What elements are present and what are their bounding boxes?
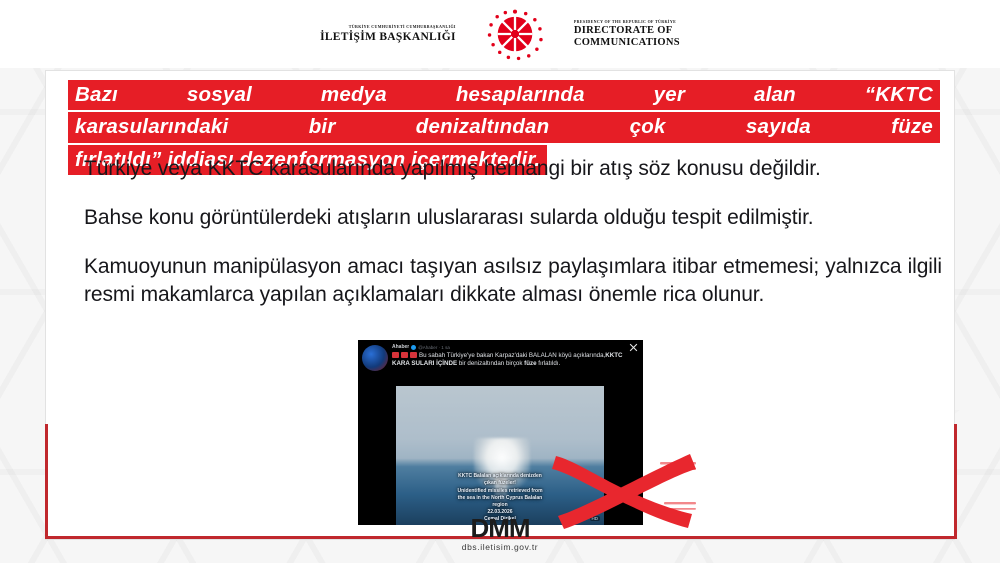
post-body-copy: Bu sabah Türkiye'ye bakan Karpaz'daki BA… <box>392 352 622 367</box>
post-handle: @Ahaber · 1 sa <box>418 345 450 350</box>
siren-icon-1 <box>392 352 399 358</box>
caption-line-2: çıkan füzeler! <box>400 480 600 487</box>
paragraph-2: Bahse konu görüntülerdeki atışların ulus… <box>84 204 942 233</box>
body-text-block: Türkiye veya KKTC karasularında yapılmış… <box>84 155 942 310</box>
verified-badge-icon <box>411 345 416 350</box>
post-account-name: Ahaber <box>392 344 409 350</box>
siren-emoji-icons <box>392 352 417 358</box>
post-video-thumbnail[interactable]: KKTC Balalan açıklarında denizden çıkan … <box>396 386 604 525</box>
turkish-presidency-emblem-icon <box>484 6 546 62</box>
header-right-name-line2: COMMUNICATIONS <box>574 37 680 48</box>
post-body-text: Bu sabah Türkiye'ye bakan Karpaz'daki BA… <box>392 352 639 368</box>
close-icon[interactable] <box>629 343 638 352</box>
social-post: Ahaber @Ahaber · 1 sa Bu sabah Türkiye'y… <box>358 340 643 525</box>
header-right-org: PRESIDENCY OF THE REPUBLIC OF TÜRKİYE DI… <box>574 20 680 49</box>
header-left-org: TÜRKİYE CUMHURİYETİ CUMHURBAŞKANLIĞI İLE… <box>320 25 456 42</box>
page-header: TÜRKİYE CUMHURİYETİ CUMHURBAŞKANLIĞI İLE… <box>0 0 1000 68</box>
avatar <box>362 345 388 371</box>
headline-line-1: Bazı sosyal medya hesaplarında yer alan … <box>68 80 940 110</box>
caption-line-4: the sea in the North Cyprus Balalan <box>400 495 600 502</box>
paragraph-3: Kamuoyunun manipülasyon amacı taşıyan as… <box>84 253 942 311</box>
caption-line-5: region <box>400 502 600 509</box>
headline-line-2: karasularındaki bir denizaltından çok sa… <box>68 112 940 142</box>
siren-icon-3 <box>410 352 417 358</box>
embedded-social-post-screenshot: Ahaber @Ahaber · 1 sa Bu sabah Türkiye'y… <box>358 340 643 525</box>
header-right-superline: PRESIDENCY OF THE REPUBLIC OF TÜRKİYE <box>574 20 680 24</box>
dmm-footer-logo: DMM dbs.iletisim.gov.tr <box>0 515 1000 552</box>
header-left-name: İLETİŞİM BAŞKANLIĞI <box>320 31 456 43</box>
paragraph-1: Türkiye veya KKTC karasularında yapılmış… <box>84 155 942 184</box>
dmm-wordmark: DMM <box>0 515 1000 541</box>
dmm-url: dbs.iletisim.gov.tr <box>0 542 1000 552</box>
header-left-superline: TÜRKİYE CUMHURİYETİ CUMHURBAŞKANLIĞI <box>320 25 456 29</box>
post-header: Ahaber @Ahaber · 1 sa Bu sabah Türkiye'y… <box>358 340 643 386</box>
header-right-name-line1: DIRECTORATE OF <box>574 25 680 36</box>
siren-icon-2 <box>401 352 408 358</box>
post-account-row: Ahaber @Ahaber · 1 sa <box>392 343 639 351</box>
caption-line-3: Unidentified missiles retrieved from <box>400 488 600 495</box>
